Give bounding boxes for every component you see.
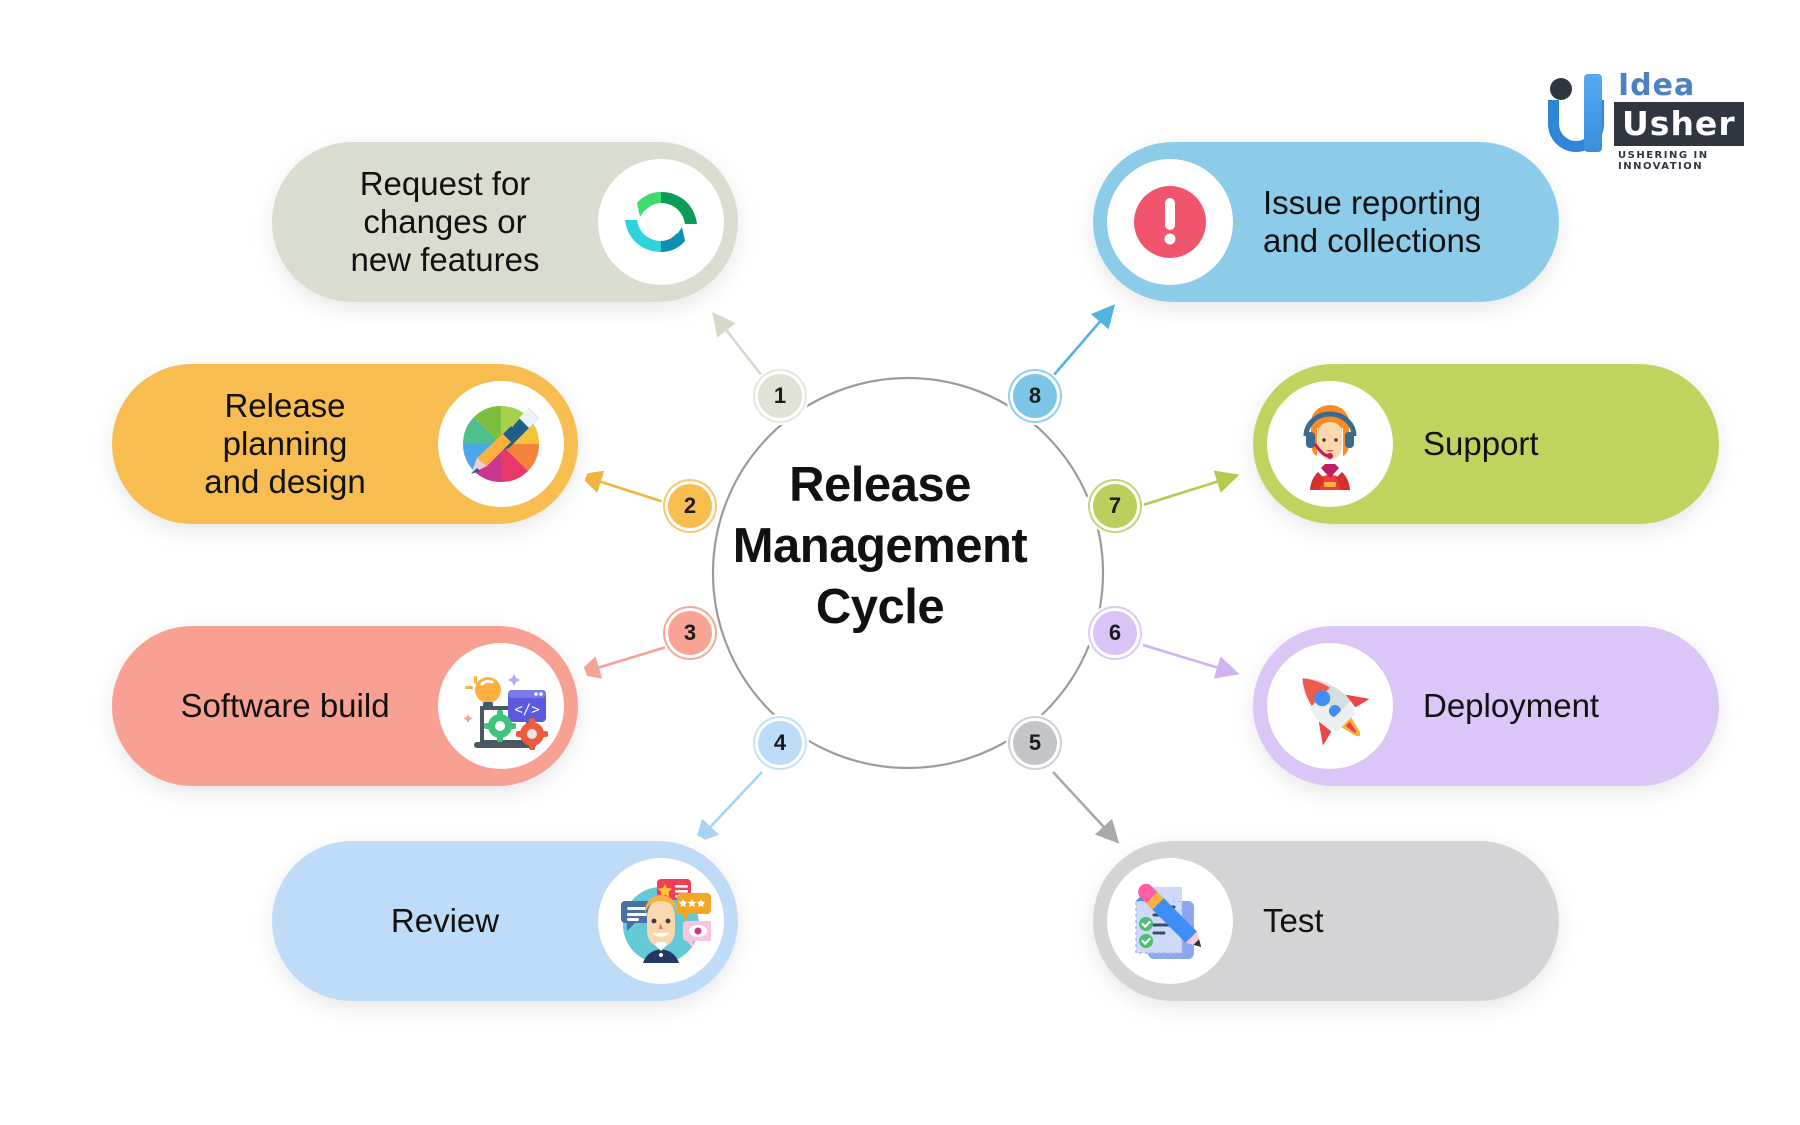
card-review-label: Review [272,902,598,940]
card-issue-reporting-label: Issue reporting and collections [1233,184,1559,260]
idea-usher-logo: Idea Usher USHERING IN INNOVATION [1546,62,1742,170]
step-node-3[interactable]: 3 [661,604,719,662]
code-laptop-gears-icon: </> [438,643,564,769]
card-support[interactable]: Support [1253,364,1719,524]
diagram-canvas: Idea Usher USHERING IN INNOVATION [0,0,1800,1125]
card-software-build-label: Software build [112,687,438,725]
card-review[interactable]: Review [272,841,738,1001]
alert-exclamation-icon [1107,159,1233,285]
recycle-arrows-icon [598,159,724,285]
card-support-label: Support [1393,425,1719,463]
logo-word-idea: Idea [1618,68,1695,103]
step-node-4-number: 4 [758,721,802,765]
checklist-pencil-icon [1107,858,1233,984]
card-release-planning[interactable]: Release planning and design [112,364,578,524]
step-node-4[interactable]: 4 [751,714,809,772]
svg-text:</>: </> [514,702,539,718]
card-deployment-label: Deployment [1393,687,1719,725]
card-test[interactable]: Test [1093,841,1559,1001]
step-node-6[interactable]: 6 [1086,604,1144,662]
step-node-6-number: 6 [1093,611,1137,655]
step-node-5-number: 5 [1013,721,1057,765]
card-issue-reporting[interactable]: Issue reporting and collections [1093,142,1559,302]
design-palette-pen-icon [438,381,564,507]
rocket-icon [1267,643,1393,769]
logo-tagline: USHERING IN INNOVATION [1618,150,1742,172]
card-test-label: Test [1233,902,1559,940]
center-title: Release Management Cycle [690,455,1070,637]
card-software-build[interactable]: Software build [112,626,578,786]
card-release-planning-label: Release planning and design [112,387,438,501]
card-request-changes-label: Request for changes or new features [272,165,598,279]
step-node-1-number: 1 [758,374,802,418]
card-request-changes[interactable]: Request for changes or new features [272,142,738,302]
step-node-5[interactable]: 5 [1006,714,1064,772]
step-node-3-number: 3 [668,611,712,655]
step-node-2-number: 2 [668,484,712,528]
step-node-1[interactable]: 1 [751,367,809,425]
customer-review-icon [598,858,724,984]
step-node-7[interactable]: 7 [1086,477,1144,535]
logo-word-usher: Usher [1614,102,1744,146]
card-deployment[interactable]: Deployment [1253,626,1719,786]
logo-mark-icon [1546,74,1610,152]
step-node-8-number: 8 [1013,374,1057,418]
step-node-2[interactable]: 2 [661,477,719,535]
headset-agent-icon [1267,381,1393,507]
step-node-8[interactable]: 8 [1006,367,1064,425]
step-node-7-number: 7 [1093,484,1137,528]
